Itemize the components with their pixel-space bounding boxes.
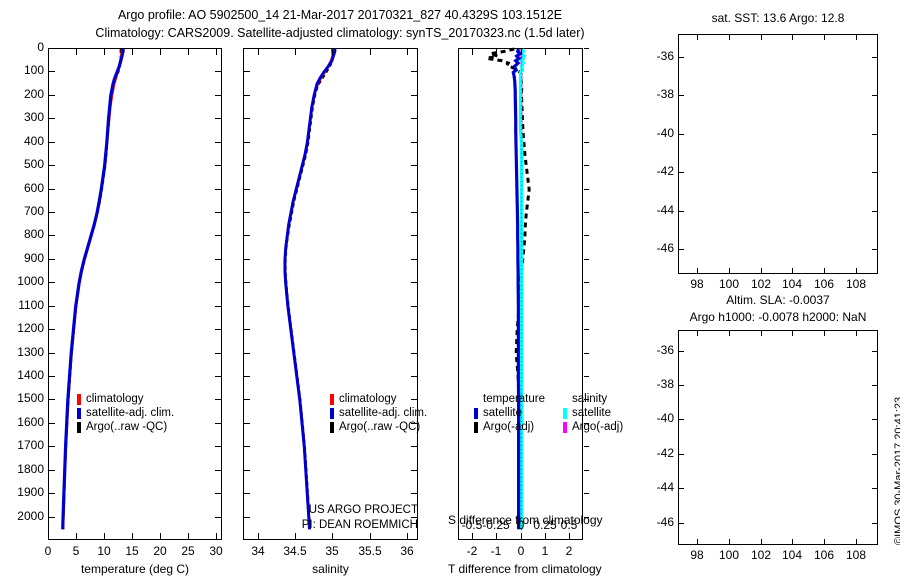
tick-mark [332, 49, 333, 55]
legend-item-salinity-satellite: satellite [563, 406, 623, 420]
tick-mark [729, 268, 730, 273]
tick-mark [569, 533, 570, 539]
legend-label-climatology: climatology [339, 392, 397, 406]
tick-mark [872, 249, 877, 250]
tick-mark [48, 533, 49, 539]
tick-mark [244, 189, 250, 190]
legend-label-satellite-adj: satellite-adj. clim. [86, 406, 174, 420]
legend-swatch-salinity-argo-adj [563, 422, 567, 433]
tick-mark [49, 165, 55, 166]
tick-mark [411, 71, 417, 72]
tick-mark [679, 172, 684, 173]
tick-mark [679, 351, 684, 352]
tick-mark [215, 399, 221, 400]
salinity-axis-label: salinity [243, 562, 418, 576]
tick-mark [244, 235, 250, 236]
legend-label-argo-raw: Argo(..raw -QC) [86, 420, 167, 434]
legend-swatch-argo-raw [77, 422, 81, 433]
tick-mark [49, 493, 55, 494]
tick-mark [729, 35, 730, 40]
tick-mark [679, 488, 684, 489]
tick-label: 1900 [2, 485, 44, 499]
legend-label-argo-raw: Argo(..raw -QC) [339, 420, 420, 434]
tick-mark [584, 470, 589, 471]
tick-mark [244, 118, 250, 119]
difference-axis-label-bottom: T difference from climatology [448, 562, 594, 576]
tick-mark [49, 95, 55, 96]
tick-label: 700 [2, 204, 44, 218]
tick-mark [215, 71, 221, 72]
tick-label: 1100 [2, 298, 44, 312]
tick-mark [584, 306, 589, 307]
tick-mark [584, 353, 589, 354]
tick-mark [215, 212, 221, 213]
tick-mark [872, 523, 877, 524]
legend-label-salinity-argo-adj: Argo(-adj) [572, 420, 623, 434]
tick-mark [584, 212, 589, 213]
tick-mark [295, 49, 296, 55]
tick-mark [244, 353, 250, 354]
legend-swatch-climatology [77, 394, 81, 405]
tick-mark [244, 493, 250, 494]
tick-mark [584, 446, 589, 447]
tick-mark [545, 533, 546, 539]
figure-title-line1: Argo profile: AO 5902500_14 21-Mar-2017 … [0, 8, 680, 22]
tick-mark [215, 353, 221, 354]
tick-mark [49, 329, 55, 330]
legend-header-temperature-label: temperature [483, 392, 545, 406]
tick-mark [679, 523, 684, 524]
tick-mark [679, 419, 684, 420]
tick-mark [411, 446, 417, 447]
tick-mark [792, 539, 793, 544]
legend-group-temperature: temperature satellite Argo(-adj) [474, 392, 545, 434]
tick-mark [872, 454, 877, 455]
tick-label: 108 [840, 277, 872, 291]
tick-mark [215, 446, 221, 447]
tick-mark [521, 49, 522, 55]
sst-map-panel[interactable] [678, 34, 878, 274]
legend-item-satellite-adj: satellite-adj. clim. [330, 406, 427, 420]
tick-mark [411, 282, 417, 283]
tick-label: 1200 [2, 321, 44, 335]
legend-item-climatology: climatology [330, 392, 427, 406]
tick-mark [824, 331, 825, 336]
tick-mark [104, 49, 105, 55]
tick-label: -40 [646, 411, 674, 425]
tick-mark [856, 331, 857, 336]
tick-mark [872, 488, 877, 489]
tick-mark [244, 376, 250, 377]
tick-mark [215, 189, 221, 190]
legend-item-temperature-argo-adj: Argo(-adj) [474, 420, 545, 434]
tick-mark [584, 142, 589, 143]
tick-label: 98 [681, 277, 713, 291]
tick-mark [872, 172, 877, 173]
tick-mark [188, 533, 189, 539]
legend-item-temperature-satellite: satellite [474, 406, 545, 420]
tick-mark [104, 533, 105, 539]
tick-mark [49, 282, 55, 283]
figure-title-line2: Climatology: CARS2009. Satellite-adjuste… [0, 26, 680, 40]
tick-mark [761, 35, 762, 40]
tick-mark [729, 539, 730, 544]
tick-mark [792, 268, 793, 273]
tick-label: 600 [2, 181, 44, 195]
tick-mark [49, 446, 55, 447]
tick-mark [215, 282, 221, 283]
tick-mark [49, 353, 55, 354]
legend-label-temperature-argo-adj: Argo(-adj) [483, 420, 534, 434]
tick-label: 1700 [2, 438, 44, 452]
tick-mark [216, 533, 217, 539]
tick-label: 108 [840, 548, 872, 562]
tick-mark [679, 454, 684, 455]
legend-swatch-satellite-adj [330, 408, 334, 419]
tick-label: 106 [808, 548, 840, 562]
tick-mark [584, 48, 589, 49]
temperature-panel-legend: climatology satellite-adj. clim. Argo(..… [77, 392, 174, 434]
tick-mark [411, 48, 417, 49]
tick-mark [132, 533, 133, 539]
sla-map-title-line1: Altim. SLA: -0.0037 [673, 293, 883, 307]
legend-label-climatology: climatology [86, 392, 144, 406]
credit-line1: US ARGO PROJECT [248, 503, 418, 518]
tick-label: 102 [745, 548, 777, 562]
tick-label: 1600 [2, 415, 44, 429]
tick-mark [49, 376, 55, 377]
tick-mark [132, 49, 133, 55]
tick-mark [49, 517, 55, 518]
tick-label: 100 [713, 277, 745, 291]
tick-mark [679, 385, 684, 386]
tick-mark [411, 376, 417, 377]
tick-mark [472, 533, 473, 539]
temperature-profile-curves [49, 49, 223, 541]
sla-map-panel[interactable] [678, 330, 878, 545]
tick-mark [824, 539, 825, 544]
tick-mark [824, 268, 825, 273]
difference-profile-curves [459, 49, 584, 541]
tick-label: 300 [2, 110, 44, 124]
legend-item-climatology: climatology [77, 392, 174, 406]
tick-mark [872, 385, 877, 386]
legend-label-salinity-satellite: satellite [572, 406, 611, 420]
tick-label: 400 [2, 134, 44, 148]
tick-mark [697, 268, 698, 273]
tick-mark [49, 48, 55, 49]
tick-mark [472, 49, 473, 55]
tick-mark [679, 95, 684, 96]
legend-label-satellite-adj: satellite-adj. clim. [339, 406, 427, 420]
tick-label: 1400 [2, 368, 44, 382]
legend-item-salinity-argo-adj: Argo(-adj) [563, 420, 623, 434]
tick-mark [584, 71, 589, 72]
tick-mark [370, 49, 371, 55]
tick-mark [215, 493, 221, 494]
tick-mark [584, 95, 589, 96]
legend-swatch-temperature-argo-adj [474, 422, 478, 433]
tick-mark [215, 423, 221, 424]
tick-mark [697, 539, 698, 544]
tick-mark [872, 134, 877, 135]
tick-label: 106 [808, 277, 840, 291]
tick-mark [872, 95, 877, 96]
tick-mark [215, 259, 221, 260]
tick-mark [872, 57, 877, 58]
tick-mark [872, 419, 877, 420]
salinity-profile-curves [244, 49, 419, 541]
tick-label: 2 [551, 544, 587, 558]
tick-mark [545, 49, 546, 55]
tick-mark [729, 331, 730, 336]
tick-label: -46 [646, 241, 674, 255]
tick-mark [411, 95, 417, 96]
tick-mark [411, 235, 417, 236]
legend-swatch-temperature-satellite [474, 408, 478, 419]
tick-label: 500 [2, 157, 44, 171]
tick-mark [761, 331, 762, 336]
legend-label-temperature-satellite: satellite [483, 406, 522, 420]
tick-mark [697, 35, 698, 40]
tick-label: -40 [646, 126, 674, 140]
sst-map-title: sat. SST: 13.6 Argo: 12.8 [673, 11, 883, 25]
legend-group-header-temperature: temperature [474, 392, 545, 406]
tick-mark [215, 165, 221, 166]
tick-mark [49, 259, 55, 260]
tick-mark [584, 189, 589, 190]
tick-mark [584, 376, 589, 377]
tick-label: 100 [2, 63, 44, 77]
tick-mark [856, 268, 857, 273]
tick-mark [521, 533, 522, 539]
tick-label: -42 [646, 446, 674, 460]
tick-mark [697, 331, 698, 336]
tick-mark [49, 470, 55, 471]
tick-label: 36 [385, 544, 429, 558]
tick-mark [49, 423, 55, 424]
tick-mark [584, 118, 589, 119]
tick-mark [411, 142, 417, 143]
tick-mark [244, 399, 250, 400]
tick-label: 2000 [2, 509, 44, 523]
legend-swatch-argo-raw [330, 422, 334, 433]
tick-mark [761, 268, 762, 273]
tick-label: -42 [646, 164, 674, 178]
sst-heatmap-canvas [679, 35, 879, 275]
difference-panel-legend: temperature satellite Argo(-adj) salinit… [474, 392, 623, 434]
legend-group-header-salinity: salinity [563, 392, 623, 406]
sla-heatmap-canvas [679, 331, 879, 546]
tick-mark [215, 142, 221, 143]
tick-mark [370, 533, 371, 539]
tick-mark [411, 306, 417, 307]
tick-mark [215, 376, 221, 377]
tick-mark [584, 329, 589, 330]
tick-mark [761, 539, 762, 544]
tick-label: 200 [2, 87, 44, 101]
tick-mark [215, 235, 221, 236]
tick-mark [215, 329, 221, 330]
difference-axis-label-top: S difference from climatology [448, 513, 594, 527]
legend-swatch-climatology [330, 394, 334, 405]
tick-mark [258, 49, 259, 55]
tick-mark [679, 134, 684, 135]
tick-mark [244, 95, 250, 96]
legend-item-argo-raw: Argo(..raw -QC) [330, 420, 427, 434]
tick-mark [49, 142, 55, 143]
tick-mark [584, 493, 589, 494]
tick-mark [244, 259, 250, 260]
tick-mark [679, 249, 684, 250]
credit-line2: PI: DEAN ROEMMICH [248, 518, 418, 533]
tick-mark [496, 533, 497, 539]
tick-label: 1800 [2, 462, 44, 476]
legend-item-argo-raw: Argo(..raw -QC) [77, 420, 174, 434]
tick-label: 104 [776, 548, 808, 562]
tick-mark [411, 259, 417, 260]
tick-label: 98 [681, 548, 713, 562]
tick-mark [679, 57, 684, 58]
tick-mark [244, 446, 250, 447]
project-credit: US ARGO PROJECT PI: DEAN ROEMMICH [248, 503, 418, 533]
tick-label: 800 [2, 227, 44, 241]
tick-label: 102 [745, 277, 777, 291]
tick-mark [76, 49, 77, 55]
tick-mark [824, 35, 825, 40]
tick-mark [679, 211, 684, 212]
tick-mark [49, 118, 55, 119]
tick-label: 104 [776, 277, 808, 291]
tick-mark [49, 189, 55, 190]
tick-mark [584, 235, 589, 236]
temperature-axis-label: temperature (deg C) [48, 562, 222, 576]
tick-mark [872, 351, 877, 352]
tick-mark [48, 49, 49, 55]
tick-mark [215, 306, 221, 307]
tick-mark [332, 533, 333, 539]
tick-mark [215, 470, 221, 471]
tick-mark [76, 533, 77, 539]
tick-mark [215, 517, 221, 518]
tick-mark [411, 493, 417, 494]
legend-group-salinity: salinity satellite Argo(-adj) [563, 392, 623, 434]
tick-mark [49, 306, 55, 307]
tick-mark [407, 49, 408, 55]
tick-mark [215, 118, 221, 119]
tick-mark [244, 282, 250, 283]
tick-mark [244, 71, 250, 72]
tick-mark [216, 49, 217, 55]
tick-mark [215, 95, 221, 96]
tick-label: 1500 [2, 391, 44, 405]
tick-label: -38 [646, 87, 674, 101]
tick-label: -44 [646, 480, 674, 494]
tick-mark [49, 71, 55, 72]
salinity-panel-legend: climatology satellite-adj. clim. Argo(..… [330, 392, 427, 434]
tick-mark [411, 329, 417, 330]
tick-mark [584, 259, 589, 260]
tick-mark [411, 470, 417, 471]
tick-mark [49, 399, 55, 400]
tick-mark [160, 49, 161, 55]
tick-mark [856, 539, 857, 544]
tick-mark [244, 48, 250, 49]
tick-label: -36 [646, 49, 674, 63]
tick-mark [49, 212, 55, 213]
tick-label: 100 [713, 548, 745, 562]
tick-mark [244, 212, 250, 213]
tick-label: 30 [196, 544, 236, 558]
tick-mark [49, 235, 55, 236]
tick-mark [496, 49, 497, 55]
tick-mark [258, 533, 259, 539]
tick-mark [584, 165, 589, 166]
tick-mark [411, 118, 417, 119]
tick-mark [792, 331, 793, 336]
tick-mark [411, 212, 417, 213]
tick-mark [872, 211, 877, 212]
tick-label: -38 [646, 377, 674, 391]
tick-mark [411, 189, 417, 190]
tick-mark [792, 35, 793, 40]
tick-mark [411, 353, 417, 354]
tick-label: 1300 [2, 345, 44, 359]
tick-mark [569, 49, 570, 55]
tick-mark [411, 165, 417, 166]
tick-mark [244, 423, 250, 424]
legend-header-salinity-label: salinity [572, 392, 607, 406]
tick-mark [244, 306, 250, 307]
tick-mark [244, 329, 250, 330]
tick-mark [584, 282, 589, 283]
legend-item-satellite-adj: satellite-adj. clim. [77, 406, 174, 420]
tick-mark [856, 35, 857, 40]
tick-mark [160, 533, 161, 539]
tick-label: 1000 [2, 274, 44, 288]
legend-swatch-satellite-adj [77, 408, 81, 419]
tick-label: -44 [646, 203, 674, 217]
tick-mark [188, 49, 189, 55]
tick-label: 900 [2, 251, 44, 265]
tick-label: -46 [646, 515, 674, 529]
tick-mark [295, 533, 296, 539]
tick-label: 0 [2, 40, 44, 54]
tick-mark [407, 533, 408, 539]
tick-mark [244, 165, 250, 166]
tick-mark [244, 470, 250, 471]
copyright-text: ©IMOS 30-Mar-2017 20:41:23 [893, 397, 900, 545]
tick-label: -36 [646, 343, 674, 357]
tick-mark [244, 142, 250, 143]
sla-map-title-line2: Argo h1000: -0.0078 h2000: NaN [663, 310, 893, 324]
legend-swatch-salinity-satellite [563, 408, 567, 419]
